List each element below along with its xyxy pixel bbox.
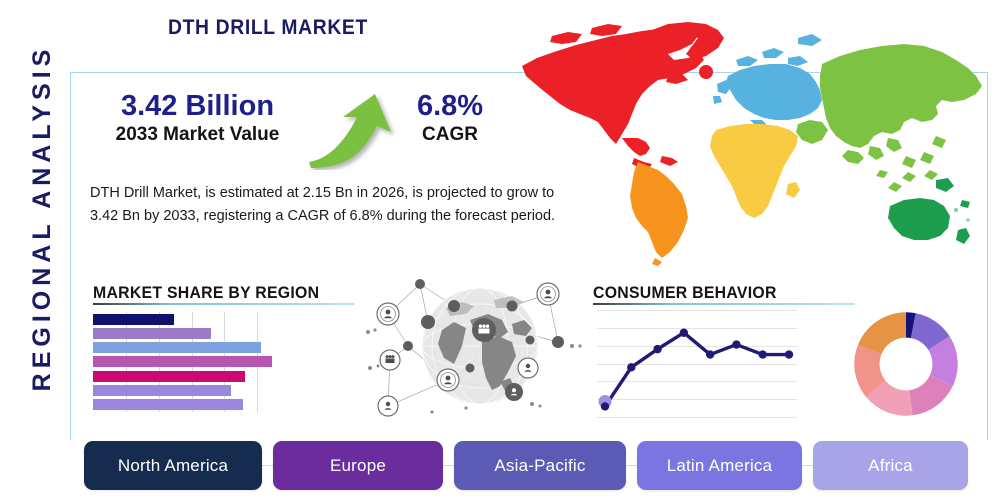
heading-rule-consumer-behavior [593,303,855,305]
bar-chart-bar-row [93,385,290,396]
line-chart-point [759,350,767,358]
line-chart-point [627,363,635,371]
cagr-label: CAGR [390,125,510,146]
heading-rule-market-share [93,303,355,305]
line-chart-point [785,350,793,358]
section-heading-market-share: MARKET SHARE BY REGION [93,283,319,303]
region-button-bar: North AmericaEuropeAsia-PacificLatin Ame… [84,441,968,490]
region-button-africa[interactable]: Africa [813,441,968,490]
bar-chart-bar-row [93,328,290,339]
bar-chart-bar [93,328,211,339]
bar-chart-bar-row [93,314,290,325]
donut-chart-segments [851,309,961,419]
line-chart-point [653,345,661,353]
bar-chart-bar [93,314,174,325]
cagr-number: 6.8% [390,92,510,121]
infographic-root: REGIONAL ANALYSIS DTH DRILL MARKET [0,0,1000,500]
world-map-icon [492,14,992,269]
growth-arrow-icon [305,90,400,170]
line-chart-point [601,402,609,410]
bar-chart-bar [93,342,261,353]
bar-chart-bar-row [93,342,290,353]
line-chart-point [680,329,688,337]
world-map [492,14,992,269]
section-heading-consumer-behavior: CONSUMER BEHAVIOR [593,283,777,303]
bar-chart-bar [93,371,245,382]
stat-cagr: 6.8% CAGR [390,92,510,146]
line-chart-point [732,340,740,348]
line-chart-point [706,350,714,358]
stats-row: 3.42 Billion 2033 Market Value 6.8% CAGR [90,92,510,172]
bar-chart-market-share [93,312,290,412]
side-label: REGIONAL ANALYSIS [22,8,62,428]
market-value-label: 2033 Market Value [90,125,305,146]
bar-chart-bar-row [93,356,290,367]
region-button-label: North America [118,456,228,476]
bar-chart-bar-row [93,399,290,410]
region-connector [443,465,454,467]
line-chart-series [597,310,797,417]
region-button-north-america[interactable]: North America [84,441,262,490]
region-button-label: Africa [868,456,913,476]
bar-chart-bar [93,385,231,396]
region-connector [802,465,813,467]
bar-chart-bar [93,356,272,367]
stat-market-value: 3.42 Billion 2033 Market Value [90,92,305,146]
region-button-label: Europe [330,456,386,476]
page-title: DTH DRILL MARKET [168,16,368,40]
globe-network-graphic [362,272,594,420]
globe-network-icon [362,272,594,420]
region-button-label: Latin America [667,456,773,476]
region-button-asia-pacific[interactable]: Asia-Pacific [454,441,626,490]
region-button-europe[interactable]: Europe [273,441,443,490]
bar-chart-bar [93,399,243,410]
market-value-number: 3.42 Billion [90,92,305,121]
region-connector [626,465,637,467]
region-button-label: Asia-Pacific [494,456,585,476]
bar-chart-bar-row [93,371,290,382]
description-text: DTH Drill Market, is estimated at 2.15 B… [90,182,580,229]
line-chart-gridline [597,417,797,418]
donut-chart-svg [851,309,961,419]
line-chart-consumer-behavior [597,310,797,417]
region-connector [262,465,273,467]
region-button-latin-america[interactable]: Latin America [637,441,802,490]
